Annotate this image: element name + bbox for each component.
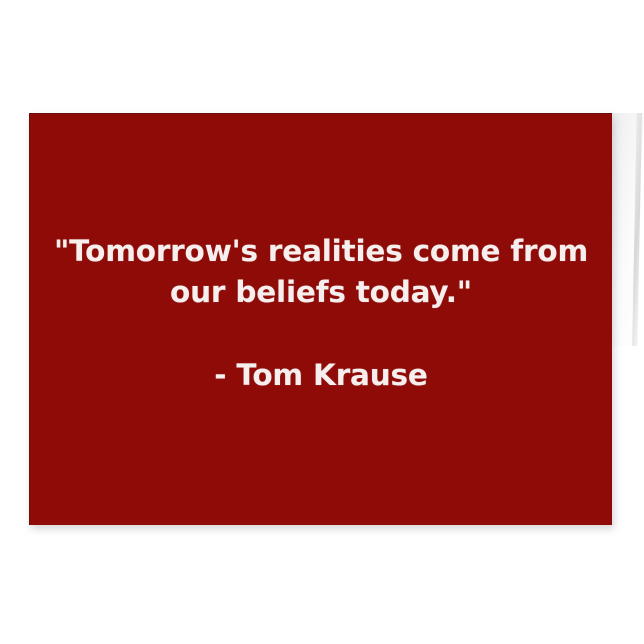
- card-canvas: "Tomorrow's realities come from our beli…: [0, 0, 644, 644]
- quote-text: "Tomorrow's realities come from our beli…: [30, 231, 612, 313]
- card-front-panel: "Tomorrow's realities come from our beli…: [29, 113, 612, 525]
- quote-attribution: - Tom Krause: [30, 355, 612, 396]
- quote-block: "Tomorrow's realities come from our beli…: [30, 231, 612, 396]
